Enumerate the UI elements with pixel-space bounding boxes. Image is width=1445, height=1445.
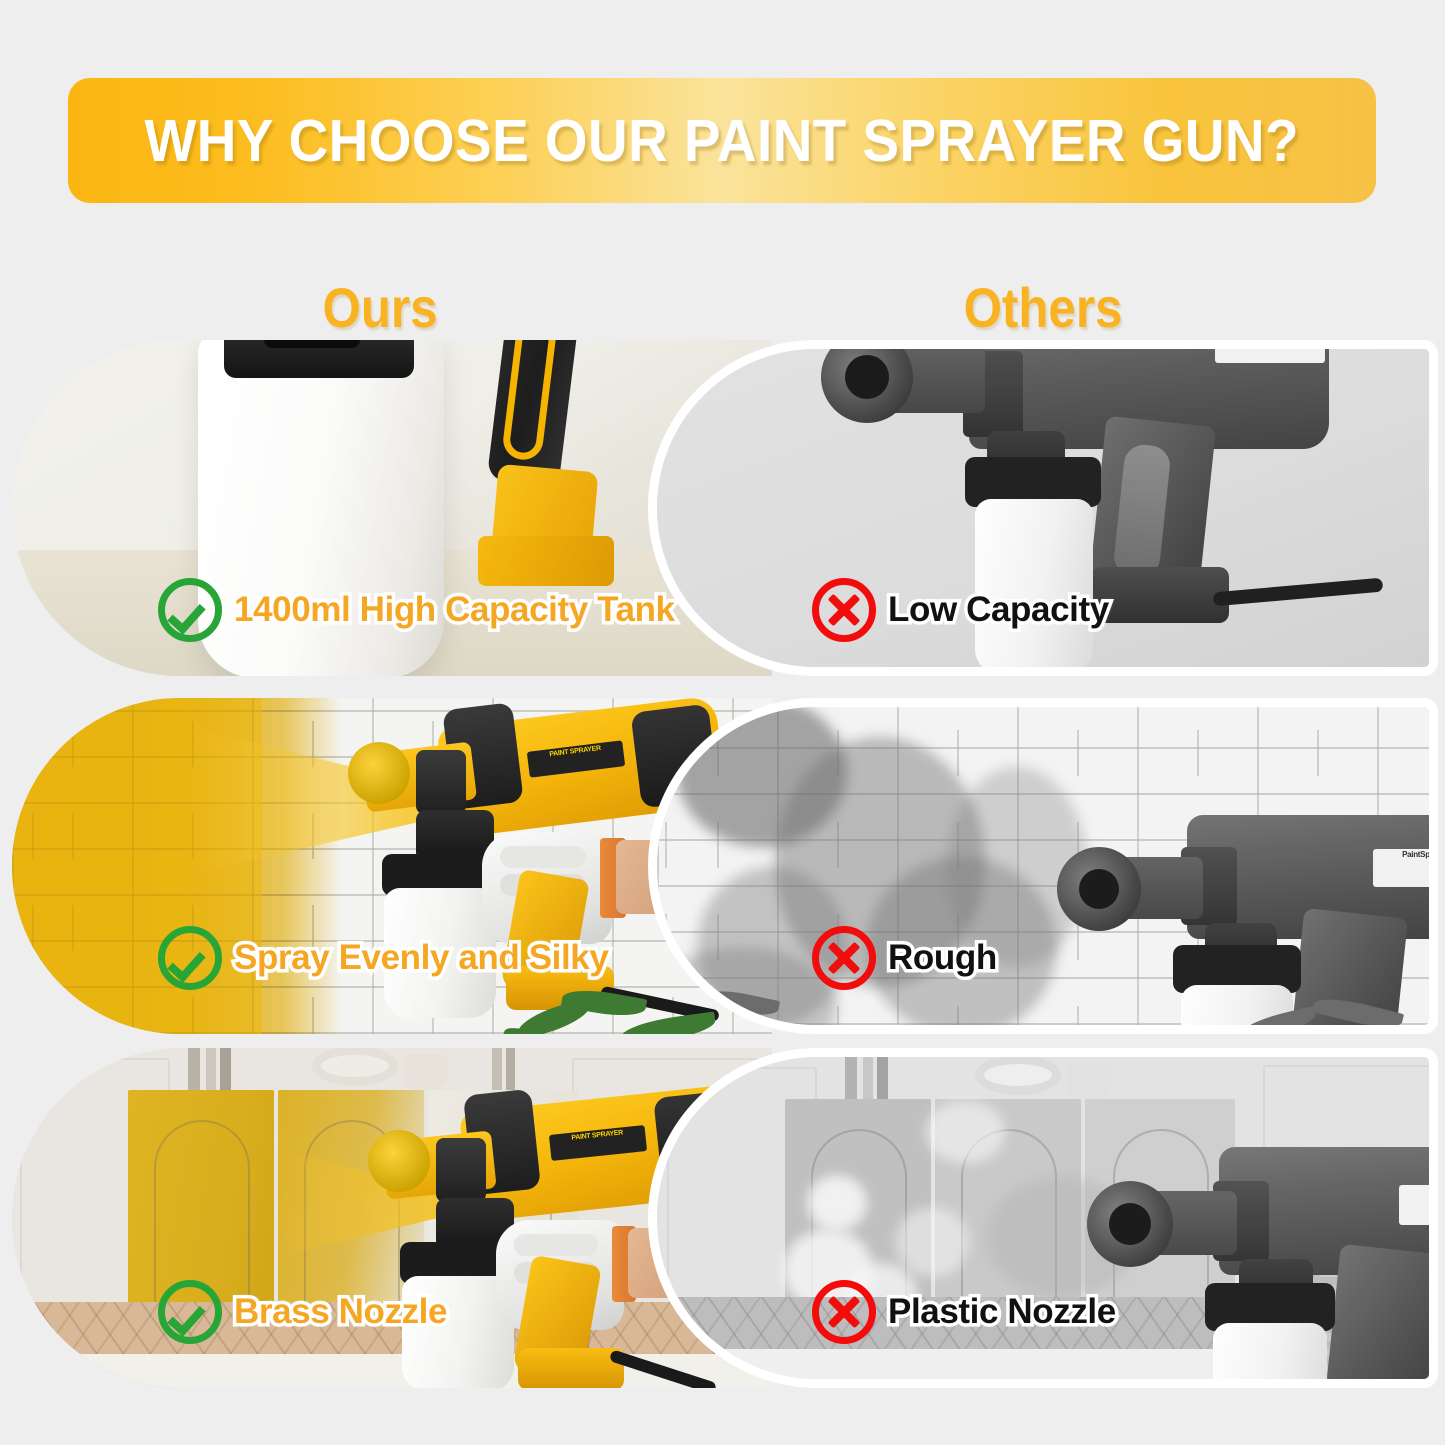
ours-badge-3: Brass Nozzle [158,1280,447,1344]
comparison-row-1: PaintSprayer [0,340,1445,676]
competitor-brand-label: PaintSprayer [1215,349,1325,363]
ours-badge-2: Spray Evenly and Silky [158,926,608,990]
cross-circle-icon [812,578,876,642]
others-badge-1: Low Capacity [812,578,1109,642]
check-circle-icon [158,1280,222,1344]
others-badge-2: Rough [812,926,997,990]
others-badge-label-3: Plastic Nozzle [888,1292,1116,1332]
column-heading-others: Others [964,275,1123,340]
comparison-row-2: PAINT SPRAYER [0,698,1445,1034]
competitor-brand-label-2: PaintSprayer [1373,849,1429,887]
cross-circle-icon [812,926,876,990]
others-panel-2: PaintSprayer [648,698,1438,1034]
header-banner: WHY CHOOSE OUR PAINT SPRAYER GUN? [68,78,1376,203]
others-badge-3: Plastic Nozzle [812,1280,1116,1344]
comparison-row-3: PAINT SPRAYER [0,1048,1445,1388]
ours-badge-1: 1400ml High Capacity Tank [158,578,675,642]
check-circle-icon [158,578,222,642]
page-title: WHY CHOOSE OUR PAINT SPRAYER GUN? [145,107,1300,175]
competitor-brand-label-3: PaintSprayer [1399,1185,1429,1225]
infographic-page: WHY CHOOSE OUR PAINT SPRAYER GUN? Ours O… [0,0,1445,1445]
scene-rough-spray-brick: PaintSprayer [657,707,1429,1025]
cross-circle-icon [812,1280,876,1344]
column-heading-ours: Ours [322,275,437,340]
others-badge-label-1: Low Capacity [888,590,1109,630]
ours-badge-label-2: Spray Evenly and Silky [234,938,608,978]
competitor-sprayer-gun-2: PaintSprayer [657,707,1429,1025]
check-circle-icon [158,926,222,990]
ours-badge-label-1: 1400ml High Capacity Tank [234,590,675,630]
others-badge-label-2: Rough [888,938,997,978]
ours-badge-label-3: Brass Nozzle [234,1292,447,1332]
